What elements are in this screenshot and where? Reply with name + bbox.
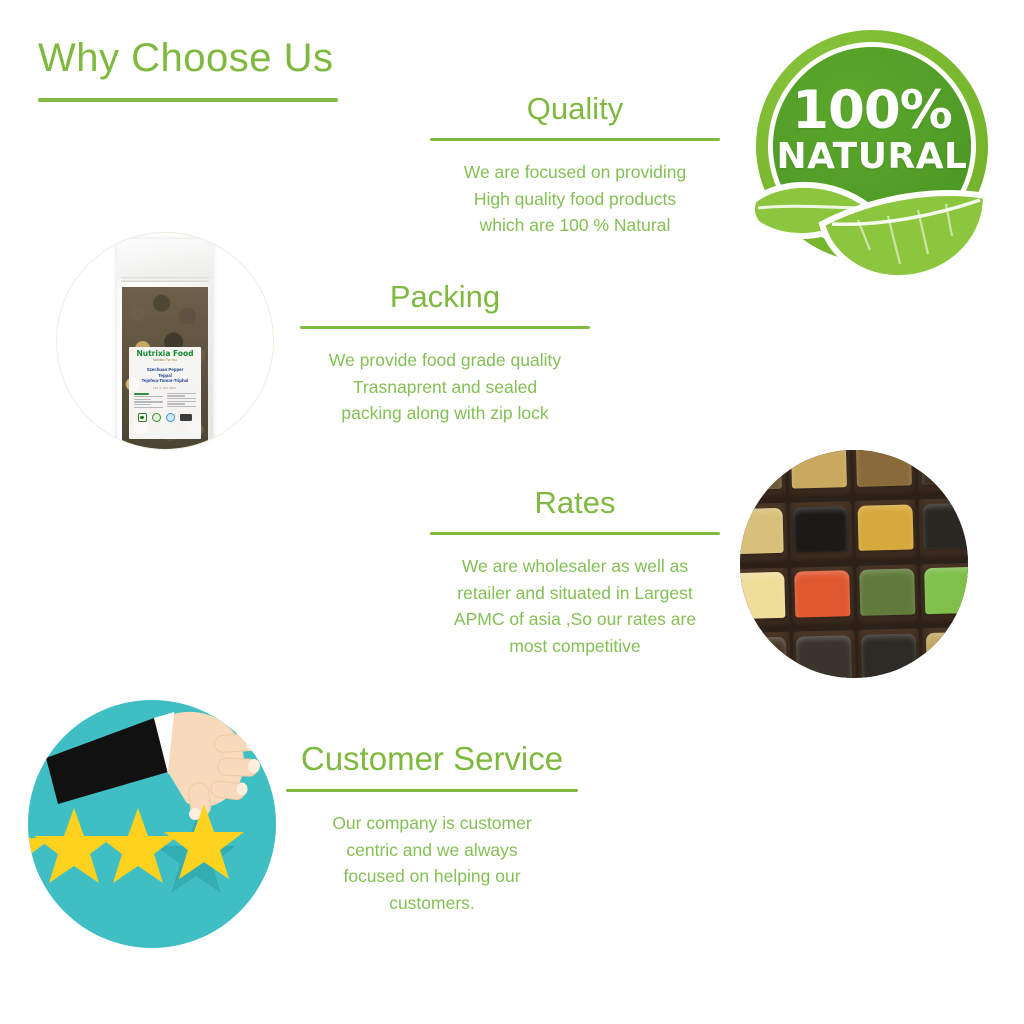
label-natural-mark: 100 % NATURAL [131,387,199,390]
feature-line: High quality food products [430,186,720,213]
feature-line: packing along with zip lock [300,400,590,427]
pouch-top-seal [117,239,213,279]
veg-mark-icon [138,413,147,422]
feature-body-rates: We are wholesaler as well as retailer an… [430,553,720,659]
feature-line: We are wholesaler as well as [430,553,720,580]
feature-line: Trasnaprent and sealed [300,374,590,401]
feature-divider-customer-service [286,789,578,792]
label-tagline: Nutrition For You [131,359,199,363]
feature-packing: Packing We provide food grade quality Tr… [300,280,590,427]
feature-quality: Quality We are focused on providing High… [430,92,720,239]
feature-line: We provide food grade quality [300,347,590,374]
spice-market-photo [740,450,968,678]
feature-rates: Rates We are wholesaler as well as retai… [430,486,720,659]
feature-body-quality: We are focused on providing High quality… [430,159,720,239]
five-star-rating-illustration [28,700,276,948]
spice-bin [793,630,856,678]
page-title: Why Choose Us [38,36,333,81]
leaf-icon [748,28,996,290]
spice-bin [922,627,968,678]
feature-line: retailer and situated in Largest [430,580,720,607]
spice-bin [917,450,968,496]
feature-title-packing: Packing [300,280,590,314]
animal-icon [180,414,192,421]
pouch-zip-lock [121,277,209,282]
feature-line: focused on helping our [286,863,578,890]
spice-bin [740,450,786,501]
spice-bin [852,450,915,498]
feature-line: Our company is customer [286,810,578,837]
label-detail-columns [131,393,199,409]
spice-bin [740,567,789,630]
label-column-right [167,393,196,409]
spice-bin [920,562,968,625]
spice-bins [740,450,968,678]
feature-line: centric and we always [286,837,578,864]
spice-bin [791,566,854,629]
spice-bin [789,501,852,564]
feature-title-quality: Quality [430,92,720,126]
feature-body-packing: We provide food grade quality Trasnapren… [300,347,590,427]
feature-divider-packing [300,326,590,329]
star-icon [98,808,178,883]
spice-bin [740,632,791,678]
suit-sleeve [46,718,168,804]
feature-line: customers. [286,890,578,917]
spice-bin [740,503,788,566]
spice-bin [919,497,968,560]
star-icon [28,810,52,885]
feature-line: APMC of asia ,So our rates are [430,606,720,633]
spice-bin [856,564,919,627]
pouch-label: Nutrixia Food Nutrition For You Szechuan… [129,347,201,439]
label-product-name: Szechuan Pepper Teppal Tejohva-Tumar-Tri… [131,367,199,384]
product-pouch-photo: Nutrixia Food Nutrition For You Szechuan… [56,232,274,450]
label-certification-icons [131,413,199,422]
feature-title-rates: Rates [430,486,720,520]
feature-title-customer-service: Customer Service [286,741,578,777]
label-brand: Nutrixia Food [131,350,199,358]
feature-line: We are focused on providing [430,159,720,186]
feature-customer-service: Customer Service Our company is customer… [286,741,578,917]
natural-badge: 100% NATURAL [748,28,996,290]
spice-bin [857,629,920,678]
recycle-icon [166,413,175,422]
feature-line: most competitive [430,633,720,660]
label-product-line: Tejohva-Tumar-Triphal [131,378,199,384]
label-column-left [134,393,163,409]
spice-bin [854,499,917,562]
feature-divider-quality [430,138,720,141]
product-pouch: Nutrixia Food Nutrition For You Szechuan… [117,239,213,450]
page-title-underline [38,98,338,102]
spice-bin [787,450,850,499]
fssai-icon [152,413,161,422]
star-icon [34,808,114,883]
feature-divider-rates [430,532,720,535]
feature-body-customer-service: Our company is customer centric and we a… [286,810,578,916]
rating-hand-graphic [28,700,276,948]
feature-line: which are 100 % Natural [430,212,720,239]
